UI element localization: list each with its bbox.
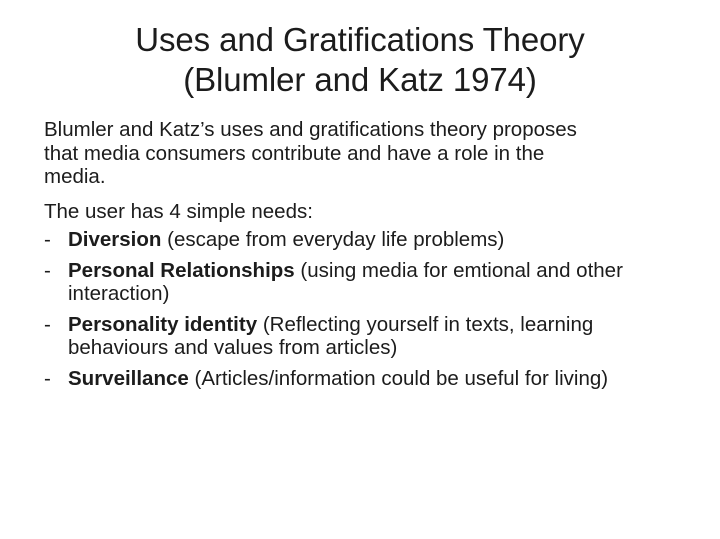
list-item: -Personality identity (Reflecting yourse…	[44, 313, 672, 360]
slide-body: Blumler and Katz’s uses and gratificatio…	[0, 118, 720, 390]
bullet-dash-icon: -	[44, 259, 68, 283]
need-description: (Articles/information could be useful fo…	[195, 367, 609, 390]
bullet-dash-icon: -	[44, 228, 68, 252]
needs-intro-line: The user has 4 simple needs:	[44, 200, 672, 224]
title-line-1: Uses and Gratifications Theory	[0, 20, 720, 60]
title-line-2: (Blumler and Katz 1974)	[0, 60, 720, 100]
intro-paragraph: Blumler and Katz’s uses and gratificatio…	[44, 118, 584, 189]
need-term: Personality identity	[68, 313, 257, 336]
bullet-dash-icon: -	[44, 313, 68, 337]
need-term: Personal Relationships	[68, 259, 295, 282]
list-item: -Surveillance (Articles/information coul…	[44, 367, 672, 391]
bullet-dash-icon: -	[44, 367, 68, 391]
needs-list: -Diversion (escape from everyday life pr…	[44, 228, 672, 390]
list-item: -Personal Relationships (using media for…	[44, 259, 672, 306]
need-term: Surveillance	[68, 367, 189, 390]
need-term: Diversion	[68, 228, 161, 251]
list-item: -Diversion (escape from everyday life pr…	[44, 228, 672, 252]
need-description: (escape from everyday life problems)	[167, 228, 504, 251]
slide: Uses and Gratifications Theory (Blumler …	[0, 0, 720, 539]
page-title: Uses and Gratifications Theory (Blumler …	[0, 0, 720, 100]
